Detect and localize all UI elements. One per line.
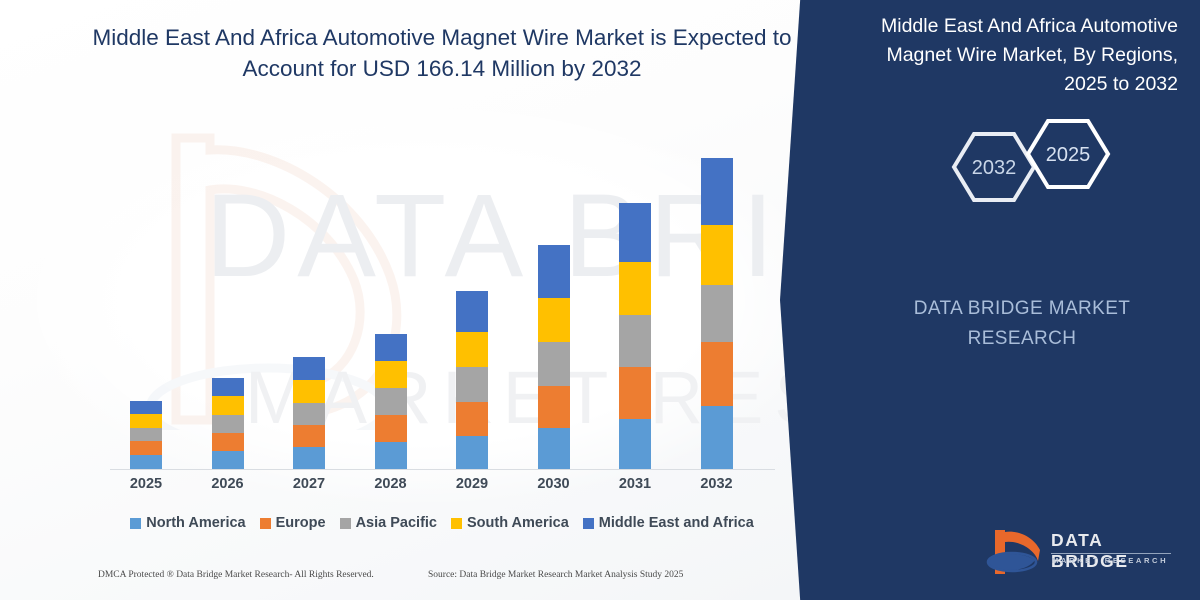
dbmr-logo: DATA BRIDGE MARKET RESEARCH <box>983 528 1178 580</box>
dbmr-logo-line2: MARKET RESEARCH <box>1052 556 1168 565</box>
hexagon-badges: 2032 2025 <box>936 112 1126 222</box>
hexagon-badge-2025: 2025 <box>1028 121 1108 187</box>
hexagon-label-2032: 2032 <box>972 157 1017 179</box>
dbmr-logo-line1: DATA BRIDGE <box>1051 530 1178 572</box>
right-panel: Middle East And Africa Automotive Magnet… <box>0 0 1200 600</box>
infographic-canvas: DATA BRIDGE MARKET RESEARCH Middle East … <box>0 0 1200 600</box>
hexagon-badge-2032: 2032 <box>954 134 1034 200</box>
panel-brand-text: DATA BRIDGE MARKET RESEARCH <box>872 294 1172 354</box>
hexagon-label-2025: 2025 <box>1046 144 1091 166</box>
dbmr-logo-divider <box>1051 553 1171 554</box>
panel-title: Middle East And Africa Automotive Magnet… <box>848 12 1178 99</box>
dbmr-logo-mark-icon <box>983 528 1045 578</box>
